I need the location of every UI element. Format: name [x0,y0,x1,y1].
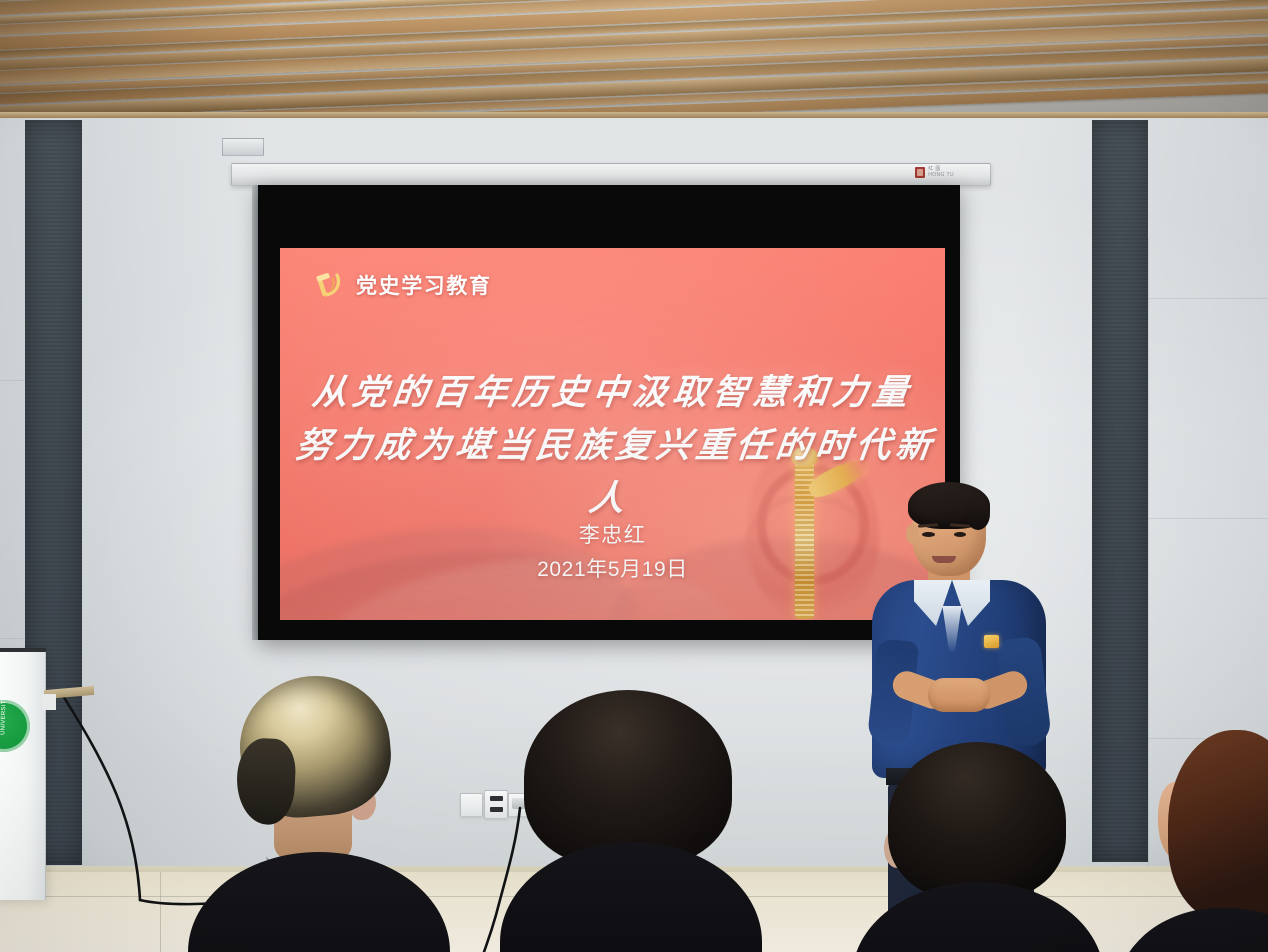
ceiling-shading [0,0,1268,118]
presentation-slide[interactable]: 党史学习教育 从党的百年历史中汲取智慧和力量 努力成为堪当民族复兴重任的时代新人… [280,248,945,620]
audience-member-4 [1168,730,1268,952]
presentation-date: 2021年5月19日 [280,553,945,583]
brand-logo-icon [915,167,925,178]
slide-header: 党史学习教育 [312,270,492,300]
presenter-hair [908,482,990,529]
wall-seam [1148,298,1268,299]
socket-slot [490,796,503,801]
slide-title-line-2: 努力成为堪当民族复兴重任的时代新人 [280,419,945,525]
ceiling-vent [222,138,264,156]
slide-credit: 李忠红 2021年5月19日 [280,519,945,583]
housing-brand: 红 图 HONG TU [915,167,954,178]
light-switch-plate[interactable] [460,793,483,817]
slide-title: 从党的百年历史中汲取智慧和力量 努力成为堪当民族复兴重任的时代新人 [280,366,945,526]
audience-member-3 [888,742,1066,952]
audience-member-2 [524,690,732,952]
slide-header-label: 党史学习教育 [356,270,492,300]
presenter-eye [954,532,966,537]
presenter-ear [906,524,919,544]
presenter-eye [922,532,935,537]
brand-name-en: HONG TU [928,173,954,179]
audience-hair [524,690,732,866]
lectern-logo-text: UNIVERSITY [0,695,7,735]
audience-hair [1168,730,1268,920]
projection-screen[interactable]: 党史学习教育 从党的百年历史中汲取智慧和力量 努力成为堪当民族复兴重任的时代新人… [258,185,960,640]
audience-torso [500,842,762,952]
cpc-hammer-sickle-emblem [312,270,345,300]
presenter-mouth [932,556,956,563]
audience-member-1 [232,676,404,952]
lectern-shelf-side [42,694,56,710]
lecture-hall-scene: 红 图 HONG TU [0,0,1268,952]
floor-tile-seam [160,872,161,952]
wall-seam [1148,238,1149,952]
socket-slot [490,807,503,812]
slide-title-line-1: 从党的百年历史中汲取智慧和力量 [280,366,945,419]
power-outlet-plate[interactable] [484,790,508,819]
wall-seam [1148,518,1268,519]
wood-slat-ceiling [0,0,1268,118]
acoustic-panel-right [1092,120,1148,862]
lectern[interactable] [0,652,46,900]
party-member-badge [984,635,999,648]
presenter-hands [928,678,990,712]
audience-hair [888,742,1066,900]
projector-screen-housing[interactable]: 红 图 HONG TU [231,163,991,186]
presenter-name: 李忠红 [280,519,945,549]
